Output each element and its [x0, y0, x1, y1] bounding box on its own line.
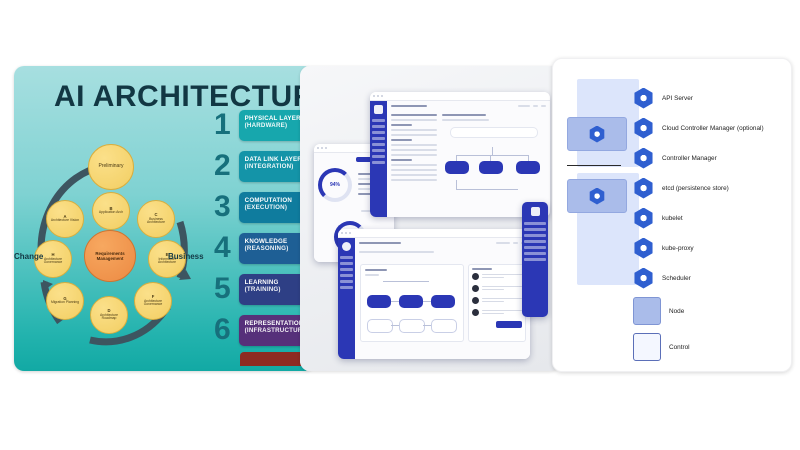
workflow-content [355, 238, 530, 359]
user-text [482, 310, 522, 316]
k8s-connector-line [567, 165, 621, 166]
avatar [472, 273, 479, 280]
connector-line [456, 180, 457, 189]
diagram-root-node[interactable] [450, 127, 538, 138]
admin-dashboard-shot[interactable] [370, 92, 550, 217]
wheel-bubble-a: AArchitecture Vision [46, 200, 84, 238]
detail-list [391, 114, 437, 184]
list-item[interactable] [391, 169, 437, 171]
sidebar-item[interactable] [524, 234, 546, 237]
avatar [472, 297, 479, 304]
user-list [472, 273, 522, 316]
app-sidebar[interactable] [338, 238, 355, 359]
user-text [482, 274, 522, 280]
sidebar-item[interactable] [372, 161, 385, 164]
workflow-node-secondary[interactable] [431, 319, 457, 333]
legend-label: Scheduler [662, 275, 691, 282]
window-dot-icon [341, 232, 343, 234]
wheel-label-business: Business [168, 252, 204, 261]
legend-item-control[interactable]: Control [633, 329, 783, 365]
k8s-legend: API Server Cloud Controller Manager (opt… [633, 83, 783, 365]
window-dot-icon [317, 147, 319, 149]
connector-line [456, 155, 528, 156]
breadcrumb [359, 251, 434, 253]
kubernetes-architecture-panel[interactable]: API Server Cloud Controller Manager (opt… [552, 58, 792, 372]
sidebar-item[interactable] [524, 240, 546, 243]
sidebar-item[interactable] [524, 228, 546, 231]
legend-item-kube-proxy[interactable]: kube-proxy [633, 233, 783, 263]
wheel-label-change: Change [14, 252, 43, 261]
list-heading [391, 114, 437, 116]
list-item[interactable] [391, 164, 437, 166]
wheel-bubble-preliminary: Preliminary [88, 144, 134, 190]
k8s-hexagon-icon [589, 126, 606, 143]
k8s-hexagon-icon [633, 148, 654, 169]
window-dot-icon [325, 147, 327, 149]
legend-item-cloud-controller-manager[interactable]: Cloud Controller Manager (optional) [633, 113, 783, 143]
legend-label: kube-proxy [662, 245, 694, 252]
connector-line [456, 189, 518, 190]
list-item[interactable] [391, 139, 412, 141]
workflow-node[interactable] [431, 295, 455, 308]
shot-body [338, 238, 530, 359]
app-logo-icon [374, 105, 383, 114]
user-list-title [472, 268, 492, 270]
user-list-card[interactable] [468, 264, 526, 342]
k8s-hexagon-icon [633, 268, 654, 289]
node-square-icon [633, 297, 661, 325]
layer-row[interactable]: 1 PHYSICAL LAYER (HARDWARE) [210, 106, 314, 144]
dashboard-content [387, 101, 550, 217]
submit-button[interactable] [496, 321, 522, 328]
layer-row[interactable]: 6 REPRESENTATION (INFRASTRUCTURE) [210, 311, 314, 349]
canvas-sub [365, 274, 379, 276]
k8s-hexagon-icon [633, 178, 654, 199]
sidebar-item[interactable] [340, 280, 353, 283]
window-dot-icon [381, 95, 383, 97]
window-dot-icon [345, 232, 347, 234]
legend-label: Control [669, 344, 690, 351]
dashboard-collage-panel[interactable]: 94% 68% [300, 66, 560, 371]
section-title [442, 114, 486, 116]
app-sidebar[interactable] [370, 101, 387, 217]
list-item[interactable] [391, 149, 437, 151]
sidebar-item[interactable] [340, 274, 353, 277]
list-item[interactable] [472, 273, 522, 280]
window-titlebar [338, 229, 530, 238]
nav-strip-shot[interactable] [522, 202, 548, 317]
wheel-bubble-d: DArchitecture Roadmap [90, 296, 128, 334]
window-titlebar [370, 92, 550, 101]
page-title [391, 105, 427, 107]
layer-number: 4 [210, 233, 235, 263]
legend-item-node[interactable]: Node [633, 293, 783, 329]
list-item[interactable] [391, 174, 437, 176]
list-item[interactable] [391, 129, 437, 131]
sidebar-item[interactable] [340, 286, 353, 289]
sidebar-item[interactable] [372, 131, 385, 134]
section-sub [442, 119, 489, 121]
connector-line [391, 325, 399, 326]
wheel-bubble-c-label: Business Architecture [147, 217, 165, 225]
wheel-center-requirements: Requirements Management [84, 230, 136, 282]
sidebar-item[interactable] [340, 262, 353, 265]
app-logo-icon [342, 242, 351, 251]
workflow-node[interactable] [367, 295, 391, 308]
sidebar-item[interactable] [372, 155, 385, 158]
layer-number: 6 [210, 315, 235, 345]
wheel-bubble-g-label: Migration Planning [51, 300, 79, 304]
legend-item-etcd[interactable]: etcd (persistence store) [633, 173, 783, 203]
avatar [472, 309, 479, 316]
list-item[interactable] [472, 309, 522, 316]
wheel-bubble-d-label: Architecture Roadmap [100, 313, 118, 321]
connector-line [383, 281, 429, 282]
sidebar-item[interactable] [372, 149, 385, 152]
donut-chart-primary: 94% [318, 168, 352, 202]
control-square-icon [633, 333, 661, 361]
connector-line [423, 301, 431, 302]
app-logo-icon [531, 207, 540, 216]
sidebar-item[interactable] [372, 125, 385, 128]
window-dot-icon [377, 95, 379, 97]
connector-line [423, 325, 431, 326]
k8s-hexagon-icon [589, 188, 606, 205]
toolbar-action[interactable] [533, 105, 538, 107]
togaf-wheel-diagram: Preliminary AArchitecture Vision BApplic… [22, 144, 217, 359]
wheel-bubble-c: CBusiness Architecture [137, 200, 175, 238]
legend-label: Controller Manager [662, 155, 717, 162]
layer-number: 1 [210, 110, 235, 140]
toolbar-action[interactable] [518, 105, 530, 107]
layer-number: 3 [210, 192, 235, 222]
list-item[interactable] [391, 159, 412, 161]
k8s-hexagon-icon [633, 208, 654, 229]
legend-label: API Server [662, 95, 693, 102]
workflow-node-secondary[interactable] [399, 319, 425, 333]
user-text [482, 286, 522, 292]
sidebar-item[interactable] [524, 222, 546, 225]
sidebar-item[interactable] [372, 119, 385, 122]
ai-architecture-panel[interactable]: AI ARCHITECTURE Preliminary AArchitectur… [14, 66, 314, 371]
sidebar-item[interactable] [524, 258, 546, 261]
wheel-bubble-b-label: Application Arch [99, 210, 123, 214]
list-item[interactable] [391, 124, 412, 126]
window-dot-icon [373, 95, 375, 97]
list-item[interactable] [472, 285, 522, 292]
sidebar-item[interactable] [524, 246, 546, 249]
legend-label: kubelet [662, 215, 683, 222]
page-title [359, 242, 401, 244]
layer-row[interactable]: 2 DATA LINK LAYER (INTEGRATION) [210, 147, 314, 185]
workflow-node-secondary[interactable] [367, 319, 393, 333]
wheel-bubble-b: BApplication Arch [92, 192, 130, 230]
list-item[interactable] [391, 134, 437, 136]
connector-line [391, 301, 399, 302]
list-item[interactable] [391, 144, 437, 146]
wheel-bubble-a-label: Architecture Vision [51, 218, 79, 222]
workflow-canvas[interactable] [360, 264, 464, 342]
user-text [482, 298, 522, 304]
toolbar-action[interactable] [496, 242, 510, 244]
k8s-node-box[interactable] [567, 179, 627, 213]
k8s-hexagon-icon [633, 118, 654, 139]
k8s-hexagon-icon [633, 88, 654, 109]
legend-label: etcd (persistence store) [662, 185, 729, 192]
window-dot-icon [349, 232, 351, 234]
legend-item-controller-manager[interactable]: Controller Manager [633, 143, 783, 173]
window-dot-icon [321, 147, 323, 149]
avatar [472, 285, 479, 292]
layer-row[interactable]: 5 LEARNING (TRAINING) [210, 270, 314, 308]
connector-line [492, 147, 493, 155]
list-item[interactable] [391, 154, 437, 156]
legend-label: Node [669, 308, 684, 315]
sidebar-item[interactable] [372, 137, 385, 140]
k8s-hexagon-icon [633, 238, 654, 259]
legend-item-scheduler[interactable]: Scheduler [633, 263, 783, 293]
wheel-bubble-f: FArchitecture Governance [134, 282, 172, 320]
diagram-node[interactable] [479, 161, 503, 174]
legend-label: Cloud Controller Manager (optional) [662, 125, 764, 132]
workflow-dashboard-shot[interactable] [338, 229, 530, 359]
layer-number: 2 [210, 151, 235, 181]
diagram-node[interactable] [445, 161, 469, 174]
list-item[interactable] [391, 119, 437, 121]
wheel-bubble-g: GMigration Planning [46, 282, 84, 320]
sidebar-item[interactable] [524, 252, 546, 255]
sidebar-item[interactable] [340, 256, 353, 259]
canvas-title [365, 269, 387, 271]
screenshot-stage: AI ARCHITECTURE Preliminary AArchitectur… [0, 0, 800, 450]
ai-layer-stack: 1 PHYSICAL LAYER (HARDWARE) 2 DATA LINK … [210, 106, 314, 366]
legend-item-api-server[interactable]: API Server [633, 83, 783, 113]
k8s-node-box[interactable] [567, 117, 627, 151]
diagram-node[interactable] [516, 161, 540, 174]
toolbar-action[interactable] [513, 242, 518, 244]
layer-row[interactable]: 4 KNOWLEDGE (REASONING) [210, 229, 314, 267]
list-item[interactable] [391, 179, 437, 181]
shot-body [370, 101, 550, 217]
diagram-area [442, 114, 546, 184]
layer-number: 5 [210, 274, 235, 304]
wheel-bubble-h-label: Architecture Governance [44, 257, 62, 265]
sidebar-item[interactable] [372, 143, 385, 146]
list-item[interactable] [472, 297, 522, 304]
toolbar-action[interactable] [541, 105, 546, 107]
wheel-bubble-f-label: Architecture Governance [144, 299, 162, 307]
workflow-node[interactable] [399, 295, 423, 308]
layer-row[interactable]: 3 COMPUTATION (EXECUTION) [210, 188, 314, 226]
sidebar-item[interactable] [340, 268, 353, 271]
legend-item-kubelet[interactable]: kubelet [633, 203, 783, 233]
